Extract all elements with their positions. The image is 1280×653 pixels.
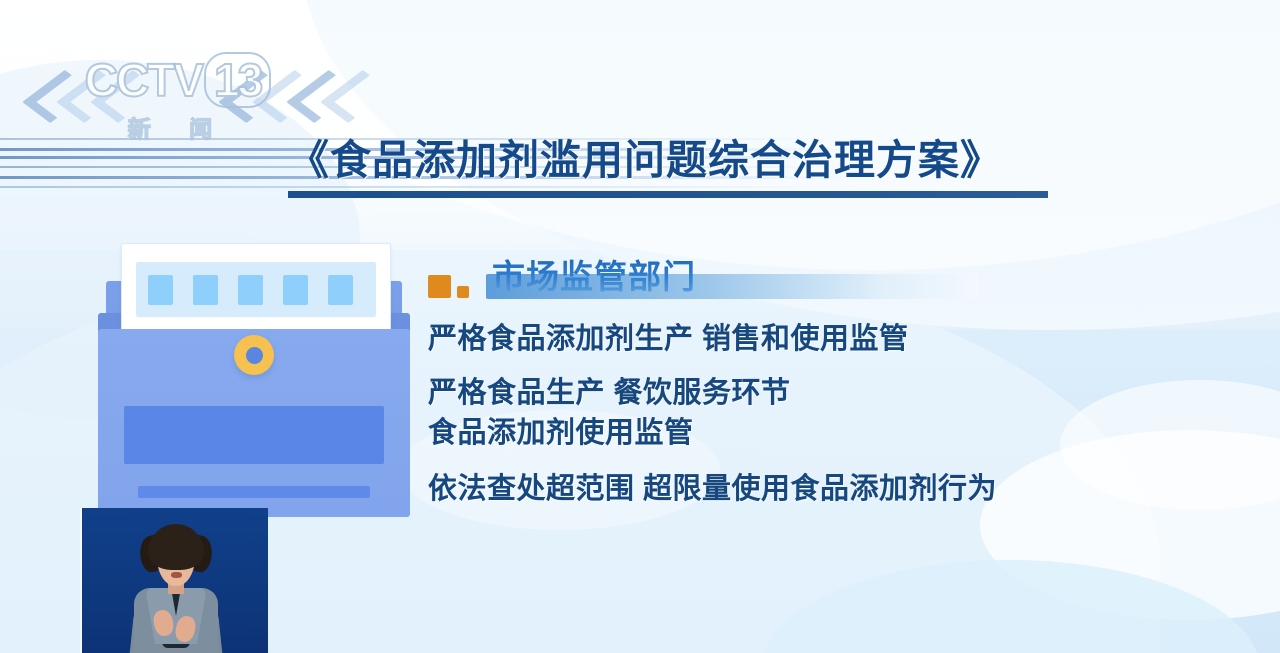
- list-item-line: 食品添加剂使用监管: [428, 414, 1188, 452]
- folder-document-icon: [94, 243, 414, 523]
- list-item: 依法查处超范围 超限量使用食品添加剂行为: [428, 470, 1188, 508]
- interpreter-mouth: [171, 572, 182, 578]
- broadcast-slide: CCTV13 新 闻 《食品添加剂滥用问题综合治理方案》: [0, 0, 1280, 653]
- document-square: [283, 275, 308, 305]
- list-item-line: 严格食品添加剂生产 销售和使用监管: [428, 320, 1188, 358]
- list-item: 严格食品添加剂生产 销售和使用监管: [428, 320, 1188, 358]
- sign-language-interpreter-video: [82, 508, 268, 653]
- channel-logo-letters: CCTV: [85, 54, 202, 106]
- list-item: 严格食品生产 餐饮服务环节 食品添加剂使用监管: [428, 374, 1188, 452]
- page-title: 《食品添加剂滥用问题综合治理方案》: [288, 126, 1048, 198]
- channel-logo-text: CCTV13: [78, 52, 278, 108]
- circle-clasp-icon: [234, 335, 274, 375]
- channel-number: 13: [204, 52, 271, 108]
- folder-bottom-bar: [138, 486, 370, 498]
- cctv13-watermark-icon: CCTV13 新 闻: [78, 52, 278, 144]
- document-square: [148, 275, 173, 305]
- page-title-text: 《食品添加剂滥用问题综合治理方案》: [288, 126, 1048, 186]
- document-square: [328, 275, 353, 305]
- orange-square-bullet-small-icon: [457, 286, 469, 298]
- interpreter-figure: [110, 524, 240, 653]
- title-underline: [288, 191, 1048, 198]
- document-square: [193, 275, 218, 305]
- content-column: 市场监管部门 严格食品添加剂生产 销售和使用监管 严格食品生产 餐饮服务环节 食…: [428, 250, 1188, 508]
- orange-square-bullet-icon: [428, 275, 451, 298]
- list-item-line: 严格食品生产 餐饮服务环节: [428, 374, 1188, 412]
- folder-inner-rectangle: [124, 406, 384, 464]
- section-heading-row: 市场监管部门: [428, 250, 1188, 302]
- document-square: [238, 275, 263, 305]
- list-item-line: 依法查处超范围 超限量使用食品添加剂行为: [428, 470, 1188, 508]
- channel-sub-label: 新 闻: [78, 110, 278, 144]
- section-heading-text: 市场监管部门: [492, 250, 696, 298]
- interpreter-hair: [148, 524, 204, 570]
- document-band: [136, 262, 376, 317]
